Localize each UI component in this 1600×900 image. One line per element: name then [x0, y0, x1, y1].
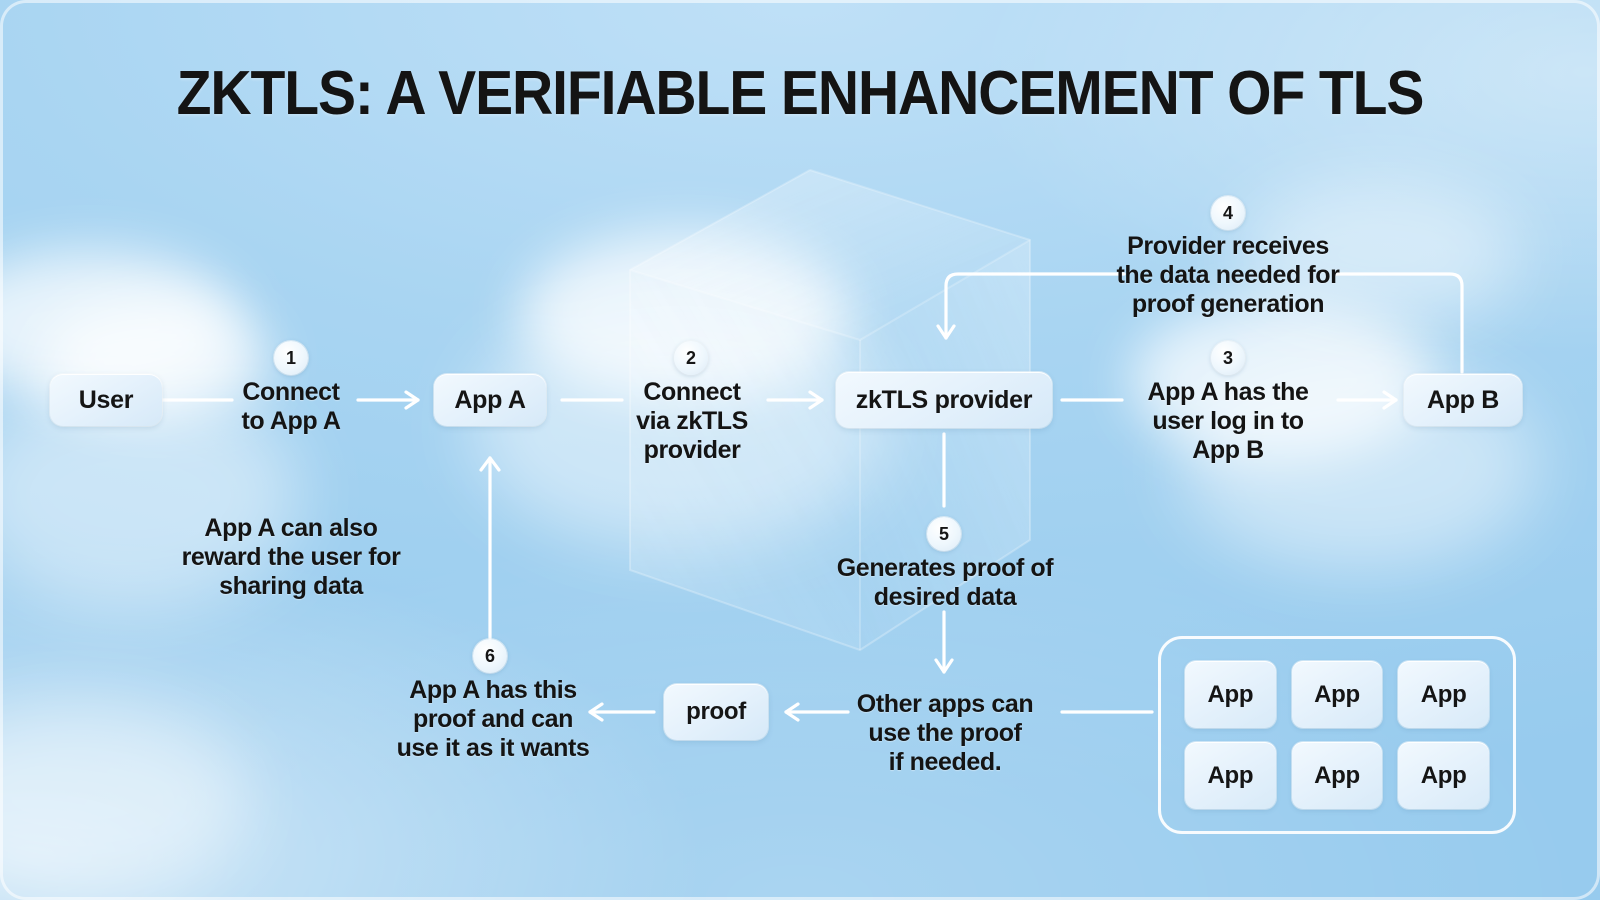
note-other-apps: Other apps canuse the proofif needed.	[836, 690, 1054, 777]
node-app-a[interactable]: App A	[434, 374, 546, 426]
app-grid-item[interactable]: App	[1185, 661, 1276, 728]
app-grid-item[interactable]: App	[1292, 742, 1383, 809]
step-label-1: Connectto App A	[200, 378, 382, 436]
infographic-canvas: ZKTLS: A VERIFIABLE ENHANCEMENT OF TLS U…	[0, 0, 1600, 900]
node-zktls-provider[interactable]: zkTLS provider	[836, 372, 1052, 428]
step-label-3: App A has theuser log in toApp B	[1118, 378, 1338, 465]
step-label-5: Generates proof ofdesired data	[818, 554, 1072, 612]
step-badge-5: 5	[927, 517, 961, 551]
step-badge-3: 3	[1211, 341, 1245, 375]
step-label-4: Provider receivesthe data needed forproo…	[1098, 232, 1358, 319]
app-grid-item[interactable]: App	[1398, 742, 1489, 809]
app-grid-item[interactable]: App	[1398, 661, 1489, 728]
node-user[interactable]: User	[50, 374, 162, 426]
app-grid-item[interactable]: App	[1292, 661, 1383, 728]
note-reward: App A can alsoreward the user forsharing…	[178, 514, 404, 601]
node-proof[interactable]: proof	[664, 684, 768, 740]
apps-grid-container: App App App App App App	[1158, 636, 1516, 834]
step-label-2: Connectvia zkTLSprovider	[600, 378, 784, 465]
app-grid-item[interactable]: App	[1185, 742, 1276, 809]
node-app-b[interactable]: App B	[1404, 374, 1522, 426]
step-badge-1: 1	[274, 341, 308, 375]
step-badge-6: 6	[473, 639, 507, 673]
step-badge-2: 2	[674, 341, 708, 375]
page-title: ZKTLS: A VERIFIABLE ENHANCEMENT OF TLS	[64, 58, 1536, 129]
step-badge-4: 4	[1211, 196, 1245, 230]
cloud-decoration	[0, 700, 250, 900]
step-label-6: App A has thisproof and canuse it as it …	[386, 676, 600, 763]
